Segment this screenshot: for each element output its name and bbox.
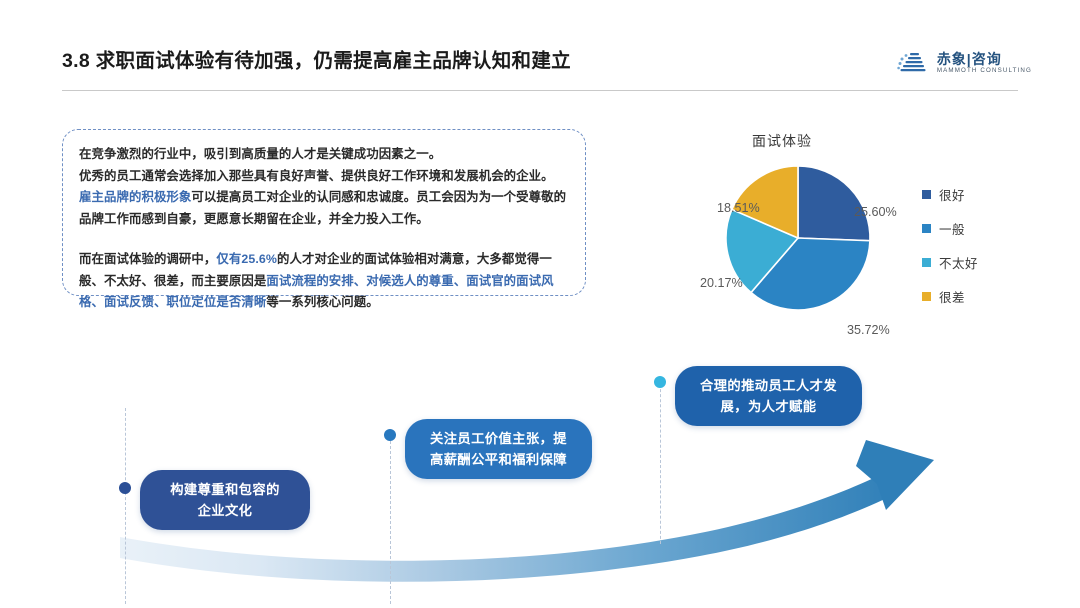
pie-label-2: 20.17%	[700, 276, 743, 290]
paragraph2-seg1: 而在面试体验的调研中，	[79, 252, 216, 266]
roadmap-section: 构建尊重和包容的 企业文化 关注员工价值主张，提 高薪酬公平和福利保障 合理的推…	[0, 330, 1080, 608]
header-divider	[62, 90, 1018, 91]
legend-item-3[interactable]: 很差	[922, 287, 978, 306]
legend-label-2: 不太好	[939, 253, 978, 272]
legend-swatch-icon	[922, 224, 931, 233]
pie-label-3: 18.51%	[717, 201, 760, 215]
node-stem-2	[390, 436, 391, 604]
paragraph2-seg5: 等一系列核心问题。	[266, 295, 378, 309]
legend-swatch-icon	[922, 292, 931, 301]
node-stem-1	[125, 408, 126, 604]
pill-3-line1: 合理的推动员工人才发	[700, 378, 837, 393]
pie-slices	[726, 166, 870, 310]
legend-item-1[interactable]: 一般	[922, 219, 978, 238]
pill-2-line2: 高薪酬公平和福利保障	[430, 452, 567, 467]
legend-item-2[interactable]: 不太好	[922, 253, 978, 272]
page-title: 3.8 求职面试体验有待加强，仍需提高雇主品牌认知和建立	[62, 44, 571, 73]
insight-paragraph-2: 而在面试体验的调研中，仅有25.6%的人才对企业的面试体验相对满意，大多都觉得一…	[79, 249, 567, 314]
legend-label-3: 很差	[939, 287, 965, 306]
chart-legend: 很好 一般 不太好 很差	[922, 185, 978, 306]
paragraph1-line1: 在竞争激烈的行业中，吸引到高质量的人才是关键成功因素之一。	[79, 147, 441, 161]
mammoth-logo-icon	[896, 50, 930, 76]
logo-english-name: MAMMOTH CONSULTING	[937, 68, 1032, 74]
node-dot-1[interactable]	[119, 482, 131, 494]
logo-text: 赤象|咨询 MAMMOTH CONSULTING	[937, 52, 1032, 74]
insight-panel: 在竞争激烈的行业中，吸引到高质量的人才是关键成功因素之一。 优秀的员工通常会选择…	[62, 129, 586, 296]
logo-chinese-name: 赤象|咨询	[937, 52, 1032, 66]
legend-label-1: 一般	[939, 219, 965, 238]
pill-3-line2: 展，为人才赋能	[721, 399, 817, 414]
legend-swatch-icon	[922, 190, 931, 199]
node-stem-3	[660, 384, 661, 544]
paragraph1-line2: 优秀的员工通常会选择加入那些具有良好声誉、提供良好工作环境和发展机会的企业。	[79, 169, 554, 183]
pie-chart: 25.60% 35.72% 20.17% 18.51%	[708, 163, 888, 313]
interview-experience-chart: 面试体验 25.60% 35.72% 20.17% 18.51% 很好 一般 不…	[690, 125, 1030, 320]
roadmap-pill-1[interactable]: 构建尊重和包容的 企业文化	[140, 470, 310, 530]
roadmap-pill-3[interactable]: 合理的推动员工人才发 展，为人才赋能	[675, 366, 862, 426]
insight-paragraph-1: 在竞争激烈的行业中，吸引到高质量的人才是关键成功因素之一。 优秀的员工通常会选择…	[79, 144, 567, 230]
pie-label-0: 25.60%	[854, 205, 897, 219]
pill-2-line1: 关注员工价值主张，提	[430, 431, 567, 446]
pill-1-line1: 构建尊重和包容的	[170, 482, 280, 497]
node-dot-2[interactable]	[384, 429, 396, 441]
legend-item-0[interactable]: 很好	[922, 185, 978, 204]
pie-slice-0[interactable]	[798, 166, 870, 241]
pill-1-line2: 企业文化	[198, 503, 253, 518]
legend-label-0: 很好	[939, 185, 965, 204]
chart-title: 面试体验	[752, 131, 812, 151]
paragraph2-highlight-pct: 仅有25.6%	[216, 252, 277, 266]
company-logo: 赤象|咨询 MAMMOTH CONSULTING	[896, 50, 1032, 76]
roadmap-pill-2[interactable]: 关注员工价值主张，提 高薪酬公平和福利保障	[405, 419, 592, 479]
paragraph1-highlight: 雇主品牌的积极形象	[79, 190, 191, 204]
legend-swatch-icon	[922, 258, 931, 267]
node-dot-3[interactable]	[654, 376, 666, 388]
pie-chart-svg	[708, 163, 888, 313]
page-header: 3.8 求职面试体验有待加强，仍需提高雇主品牌认知和建立 赤象|咨询 MAMMO…	[0, 0, 1080, 96]
